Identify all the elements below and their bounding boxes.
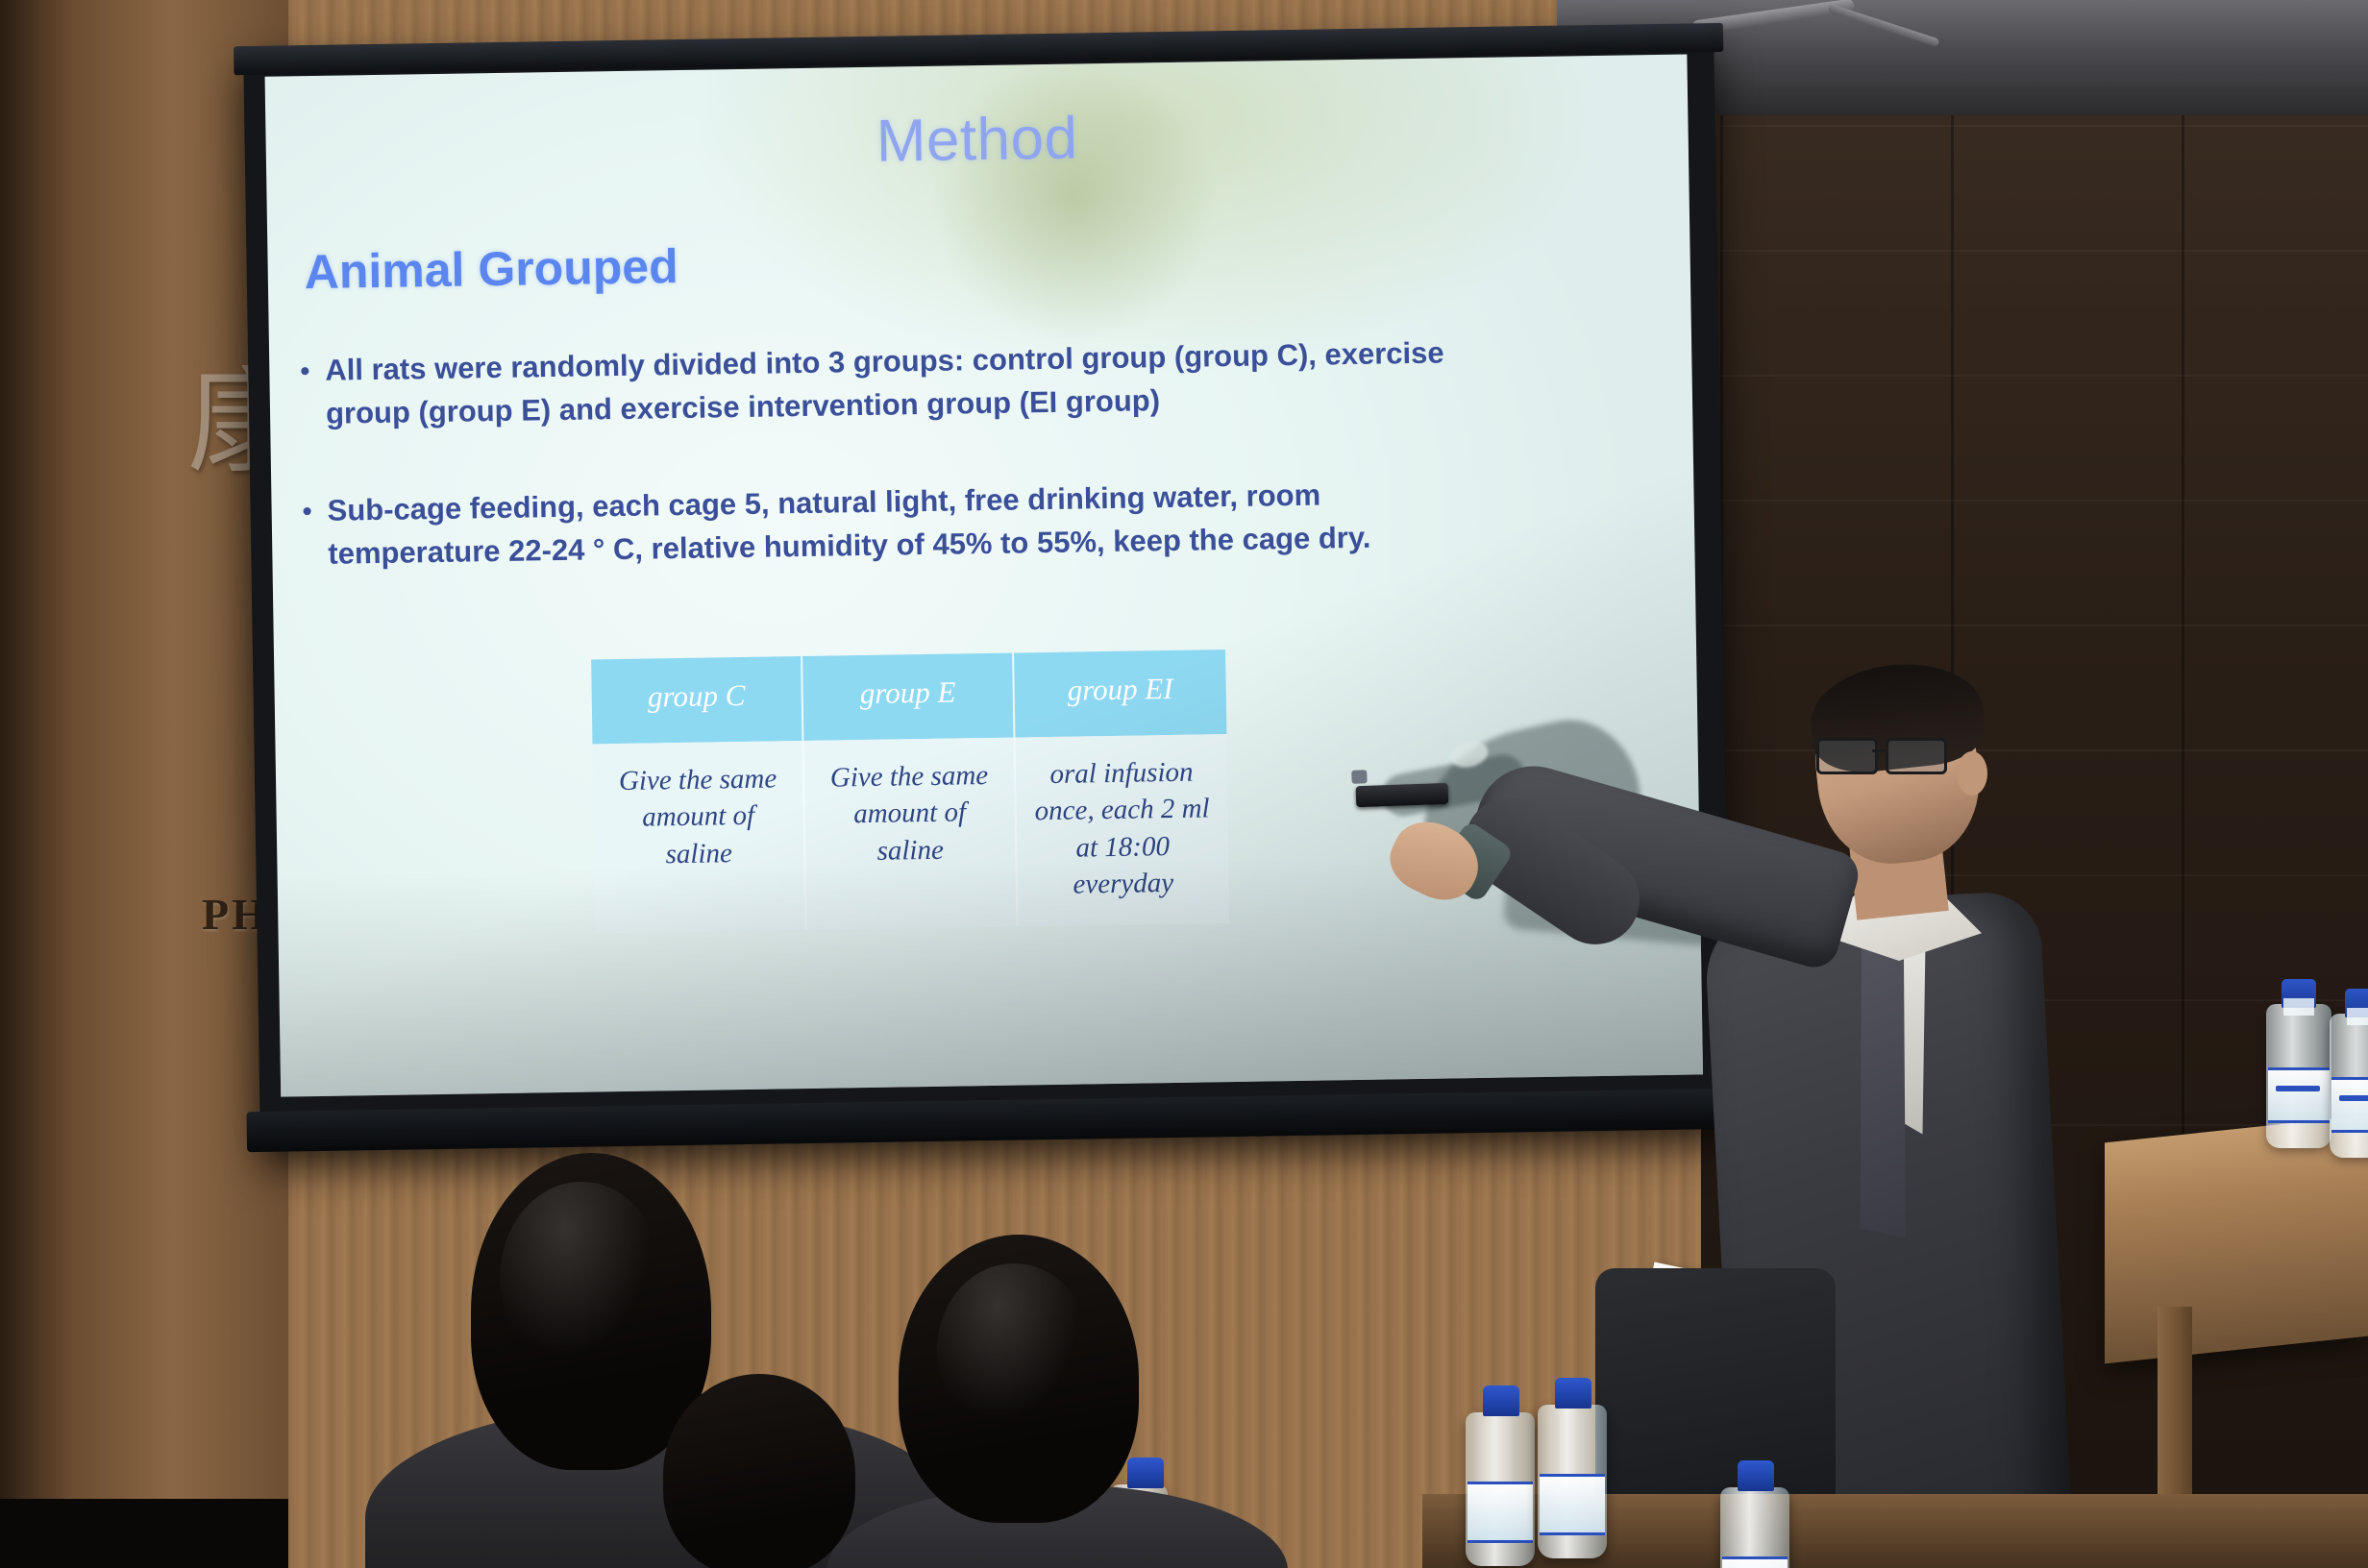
bullet-text: All rats were randomly divided into 3 gr… xyxy=(325,331,1460,435)
slide-bullet-list: • All rats were randomly divided into 3 … xyxy=(284,329,1657,630)
glasses-icon xyxy=(1816,738,1949,771)
bottle-cap xyxy=(1483,1385,1519,1416)
list-item: • Sub-cage feeding, each cage 5, natural… xyxy=(286,469,1656,576)
column-header-group-c: group C xyxy=(591,656,802,744)
bottle-label xyxy=(1722,1556,1788,1568)
column-header-group-ei: group EI xyxy=(1013,649,1226,737)
table-header-row: group C group E group EI xyxy=(591,649,1226,744)
table-cell-group-ei: oral infusion once, each 2 ml at 18:00 e… xyxy=(1014,734,1229,927)
floor-shadow xyxy=(0,1499,288,1568)
bullet-dot-icon: • xyxy=(284,350,326,437)
bottle-cap xyxy=(1738,1460,1774,1491)
left-wall-edge xyxy=(0,0,288,1568)
bottle-label xyxy=(1468,1482,1533,1543)
laser-pointer-tip xyxy=(1351,770,1367,784)
bottle-label xyxy=(2268,1067,2330,1123)
attendee-left-hair-sheen xyxy=(500,1182,663,1374)
groups-table-wrapper: group C group E group EI Give the same a… xyxy=(591,649,1229,933)
water-bottle xyxy=(2266,1004,2331,1148)
table-cell-group-e: Give the same amount of saline xyxy=(802,738,1017,930)
lecture-room-scene: 康 PH Method Animal Grouped • All rats we… xyxy=(0,0,2368,1568)
glasses-left-lens xyxy=(1816,738,1878,774)
bottle-cap xyxy=(1127,1458,1164,1488)
bottle-cap xyxy=(1555,1378,1591,1409)
groups-table: group C group E group EI Give the same a… xyxy=(591,649,1229,933)
column-header-group-e: group E xyxy=(802,653,1014,741)
water-bottle xyxy=(1720,1487,1789,1568)
bullet-text: Sub-cage feeding, each cage 5, natural l… xyxy=(327,472,1462,576)
table-cell-group-c: Give the same amount of saline xyxy=(592,741,805,933)
presenter-ear xyxy=(1957,751,1987,796)
slide-title: Method xyxy=(265,94,1689,184)
glasses-right-lens xyxy=(1886,738,1947,774)
water-bottle xyxy=(1538,1405,1607,1558)
bullet-dot-icon: • xyxy=(286,490,328,577)
attendee-center-hair-sheen xyxy=(937,1263,1091,1436)
attendee-right-head xyxy=(663,1374,855,1568)
table-row: Give the same amount of saline Give the … xyxy=(592,734,1229,933)
list-item: • All rats were randomly divided into 3 … xyxy=(284,329,1654,436)
water-bottle xyxy=(2330,1014,2368,1158)
side-table xyxy=(2105,1115,2368,1364)
bottle-label xyxy=(2331,1077,2368,1133)
bottle-label xyxy=(1540,1474,1605,1535)
water-bottle xyxy=(1466,1412,1535,1566)
slide-heading: Animal Grouped xyxy=(304,238,678,300)
bottle-neck xyxy=(2347,1008,2368,1025)
bottle-neck xyxy=(2283,998,2314,1016)
presenter-upper-arm xyxy=(1462,752,1864,972)
laser-pointer-icon[interactable] xyxy=(1356,783,1449,807)
